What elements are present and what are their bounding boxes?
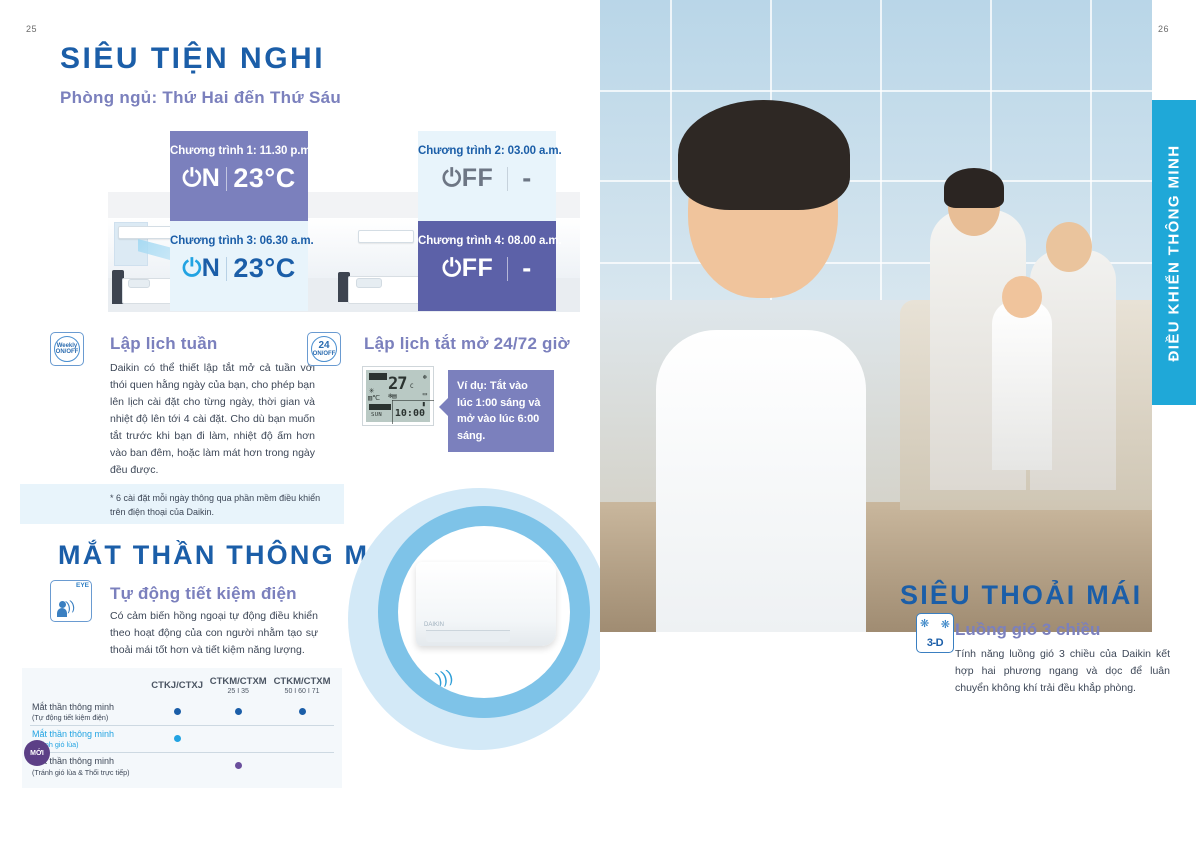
- weekly-schedule-body: Daikin có thể thiết lập tắt mở cả tuần v…: [110, 360, 315, 479]
- schedule-24-72-heading: Lập lịch tắt mở 24/72 giờ: [364, 334, 570, 354]
- air-conditioner-photo: DAIKIN ))): [398, 526, 570, 698]
- three-d-feature-body: Tính năng luồng gió 3 chiều của Daikin k…: [955, 646, 1170, 697]
- program-2-value: ⏻OFFFF -: [418, 163, 556, 194]
- program-4-temp: -: [522, 253, 532, 284]
- table-cell-mark: [206, 753, 270, 780]
- page-number-right: 26: [1158, 24, 1169, 34]
- eye-sensor-icon: EYE )): [50, 580, 92, 622]
- schedule-card-program-2[interactable]: Chương trình 2: 03.00 a.m. ⏻OFFFF -: [418, 131, 556, 221]
- eye-feature-heading: Tự động tiết kiệm điện: [110, 584, 297, 604]
- page-number-left: 25: [26, 24, 37, 34]
- program-2-temp: -: [522, 163, 532, 194]
- signal-wave-icon: ))): [434, 666, 456, 690]
- lcd-unit: C: [410, 383, 414, 390]
- left-page: 25 SIÊU TIỆN NGHI Phòng ngủ: Thứ Hai đến…: [0, 0, 600, 854]
- program-3-temp: 23°C: [233, 253, 295, 284]
- schedule-card-program-1[interactable]: Chương trình 1: 11.30 p.m. ⏻ONN 23°C: [170, 131, 308, 221]
- table-row: Mắt thần thông minh (Tránh gió lùa): [30, 726, 334, 753]
- side-tab-label: ĐIỀU KHIỂN THÔNG MINH: [1166, 144, 1183, 361]
- fan-left-icon: ❋: [920, 617, 929, 630]
- weekly-schedule-note: * 6 cài đặt mỗi ngày thông qua phần mềm …: [110, 492, 330, 520]
- eye-icon-label: EYE: [76, 582, 89, 589]
- remote-lcd-display: ✳ 27 C ❄▤ ▥℃ ❅ ▭ ▮ SUN 10:00: [362, 366, 434, 426]
- eye-feature-body: Có cảm biến hồng ngoại tự động điều khiể…: [110, 608, 318, 659]
- three-d-feature-heading: Luồng gió 3 chiều: [955, 620, 1100, 640]
- page-subtitle-left: Phòng ngủ: Thứ Hai đến Thứ Sáu: [60, 88, 341, 108]
- program-1-label: Chương trình 1: 11.30 p.m.: [170, 145, 308, 157]
- page-title-left: SIÊU TIỆN NGHI: [60, 42, 325, 76]
- weekly-icon-line2: ON/OFF: [56, 349, 79, 355]
- table-col-3: CTKM/CTXM 50 I 60 I 71: [270, 674, 334, 699]
- lcd-temperature: 27: [388, 374, 406, 394]
- right-page: 26 LUỒNG GIÓ 3 CHIỀU HOẠT ĐỘNG NHƯ THẾ N…: [600, 0, 1200, 854]
- program-3-label: Chương trình 3: 06.30 a.m.: [170, 235, 308, 247]
- table-cell-empty: [148, 753, 206, 780]
- page-title-right: SIÊU THOẢI MÁI: [900, 580, 1142, 611]
- program-3-value: ⏻ONN 23°C: [170, 253, 308, 284]
- new-badge: MỚI: [24, 740, 50, 766]
- table-row: Mắt thần thông minh (Tự động tiết kiệm đ…: [30, 699, 334, 726]
- 24-icon-line2: ON/OFF: [313, 351, 336, 357]
- three-d-airflow-icon: ❋ ❋ 3-D: [916, 613, 954, 653]
- weekly-schedule-heading: Lập lịch tuần: [110, 334, 217, 354]
- section-side-tab: ĐIỀU KHIỂN THÔNG MINH: [1152, 100, 1196, 405]
- table-cell-mark: [270, 699, 334, 726]
- table-cell-empty: [206, 726, 270, 753]
- lcd-day: SUN: [371, 412, 382, 418]
- table-header-row: CTKJ/CTXJ CTKM/CTXM 25 I 35 CTKM/CTXM 50…: [30, 674, 334, 699]
- schedule-card-program-3[interactable]: Chương trình 3: 06.30 a.m. ⏻ONN 23°C: [170, 221, 308, 311]
- table-cell-empty: [270, 753, 334, 780]
- program-2-label: Chương trình 2: 03.00 a.m.: [418, 145, 556, 157]
- 24-icon-line1: 24: [318, 341, 329, 351]
- lcd-time: 10:00: [395, 408, 425, 419]
- weekly-on-off-icon: Weekly ON/OFF: [50, 332, 84, 366]
- table-col-1: CTKJ/CTXJ: [148, 674, 206, 699]
- fan-right-icon: ❋: [941, 618, 950, 631]
- three-d-label: 3-D: [927, 637, 943, 649]
- table-row: Mắt thần thông minh (Tránh gió lùa & Thổ…: [30, 753, 334, 780]
- program-4-value: ⏻OFFFF -: [418, 253, 556, 284]
- program-1-temp: 23°C: [233, 163, 295, 194]
- table-cell-empty: [270, 726, 334, 753]
- program-4-label: Chương trình 4: 08.00 a.m.: [418, 235, 556, 247]
- schedule-card-program-4[interactable]: Chương trình 4: 08.00 a.m. ⏻OFFFF -: [418, 221, 556, 311]
- table-cell-mark: [148, 699, 206, 726]
- brochure-page: 25 SIÊU TIỆN NGHI Phòng ngủ: Thứ Hai đến…: [0, 0, 1200, 854]
- table-cell-mark: [148, 726, 206, 753]
- 24-on-off-icon: 24 ON/OFF: [307, 332, 341, 366]
- model-comparison-table: CTKJ/CTXJ CTKM/CTXM 25 I 35 CTKM/CTXM 50…: [22, 668, 342, 788]
- table-cell-mark: [206, 699, 270, 726]
- program-1-value: ⏻ONN 23°C: [170, 163, 308, 194]
- table-col-2: CTKM/CTXM 25 I 35: [206, 674, 270, 699]
- family-living-room-photo: [600, 0, 1152, 632]
- schedule-example-callout: Ví dụ: Tắt vào lúc 1:00 sáng và mở vào l…: [448, 370, 554, 452]
